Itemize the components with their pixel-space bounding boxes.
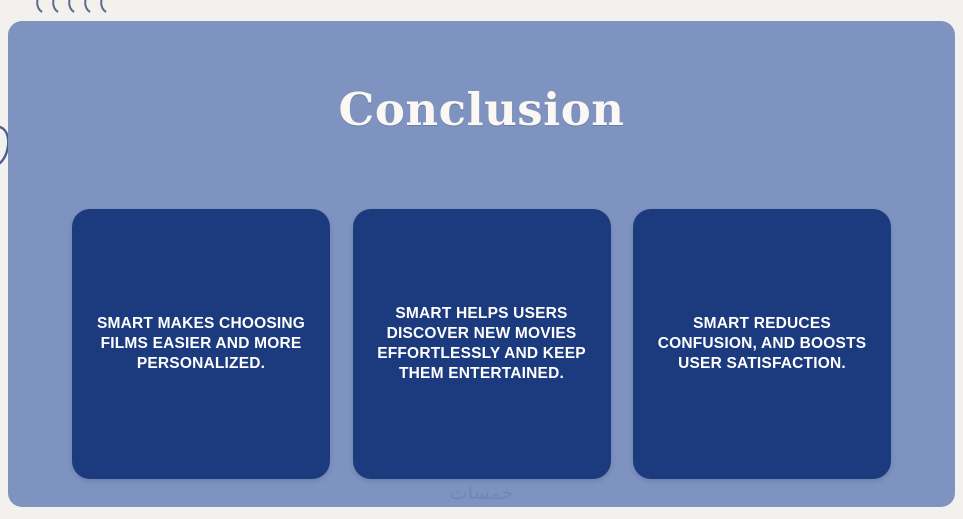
conclusion-card-list: SMART MAKES CHOOSING FILMS EASIER AND MO… [72, 209, 891, 479]
conclusion-card-3[interactable]: SMART REDUCES CONFUSION, AND BOOSTS USER… [633, 209, 891, 479]
conclusion-card-1[interactable]: SMART MAKES CHOOSING FILMS EASIER AND MO… [72, 209, 330, 479]
presentation-slide: Conclusion SMART MAKES CHOOSING FILMS EA… [8, 21, 955, 507]
conclusion-card-2[interactable]: SMART HELPS USERS DISCOVER NEW MOVIES EF… [353, 209, 611, 479]
page-title: Conclusion [8, 83, 955, 136]
conclusion-card-2-text: SMART HELPS USERS DISCOVER NEW MOVIES EF… [369, 304, 595, 383]
conclusion-card-1-text: SMART MAKES CHOOSING FILMS EASIER AND MO… [88, 314, 314, 373]
watermark-text: خمسات [8, 482, 955, 505]
conclusion-card-3-text: SMART REDUCES CONFUSION, AND BOOSTS USER… [649, 314, 875, 373]
